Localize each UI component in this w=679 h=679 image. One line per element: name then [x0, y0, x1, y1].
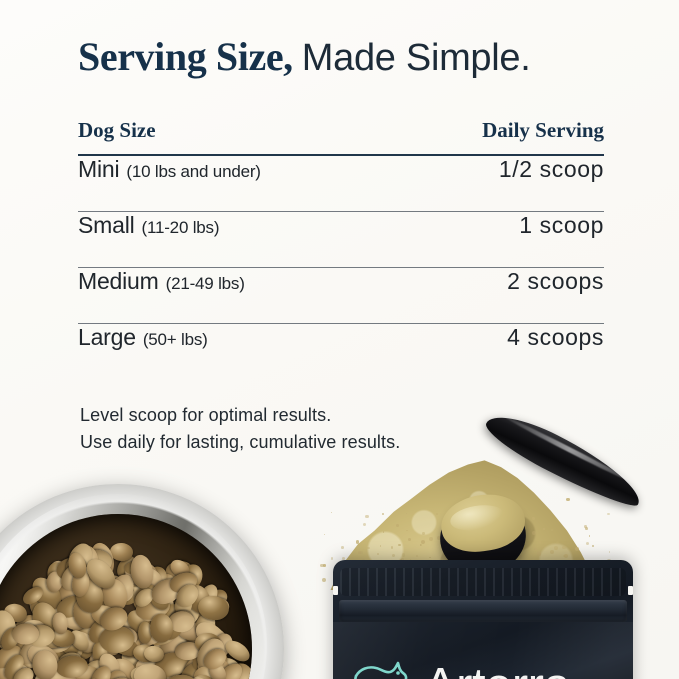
- brand-name: Arterra: [424, 663, 570, 679]
- bowl-rim: [0, 484, 284, 679]
- powder-specks: [318, 492, 618, 588]
- dog-size-name: Medium: [78, 268, 159, 295]
- dog-size-name: Small: [78, 212, 135, 239]
- table-row: Small (11-20 lbs) 1 scoop: [78, 212, 604, 267]
- table-row: Large (50+ lbs) 4 scoops: [78, 324, 604, 379]
- page-title: Serving Size, Made Simple.: [78, 33, 531, 80]
- scoop-handle: [480, 404, 650, 514]
- dog-size-range: (50+ lbs): [143, 330, 208, 350]
- footnote-line-1: Level scoop for optimal results.: [80, 402, 400, 429]
- table-row: Medium (21-49 lbs) 2 scoops: [78, 268, 604, 323]
- arterra-product-bag: Arterra: [333, 560, 633, 679]
- table-header-row: Dog Size Daily Serving: [78, 118, 604, 154]
- dog-size-cell: Large (50+ lbs): [78, 324, 208, 351]
- bag-notch-right: [628, 586, 633, 595]
- dog-logo-icon: [350, 656, 412, 679]
- table-row-divider: [78, 211, 604, 212]
- table-row-divider: [78, 323, 604, 324]
- bag-sheen: [333, 622, 633, 679]
- dog-size-range: (10 lbs and under): [126, 162, 260, 182]
- scoop-filled-powder: [437, 489, 529, 557]
- dog-size-range: (21-49 lbs): [166, 274, 245, 294]
- dog-size-name: Large: [78, 324, 136, 351]
- table-row-divider: [78, 267, 604, 268]
- column-header-dog-size: Dog Size: [78, 118, 156, 143]
- dog-size-cell: Medium (21-49 lbs): [78, 268, 245, 295]
- scoop-bowl: [435, 494, 532, 581]
- bag-notch-left: [333, 586, 338, 595]
- serving-size-infographic: Serving Size, Made Simple. Dog Size Dail…: [0, 0, 679, 679]
- footnote: Level scoop for optimal results. Use dai…: [80, 402, 400, 456]
- daily-serving-cell: 1/2 scoop: [499, 156, 604, 183]
- stainless-steel-dog-bowl: [0, 484, 284, 679]
- brand-lockup: Arterra: [350, 656, 570, 679]
- serving-size-table: Dog Size Daily Serving Mini (10 lbs and …: [78, 118, 604, 379]
- dog-size-cell: Mini (10 lbs and under): [78, 156, 261, 183]
- table-row: Mini (10 lbs and under) 1/2 scoop: [78, 156, 604, 211]
- footnote-line-2: Use daily for lasting, cumulative result…: [80, 429, 400, 456]
- title-bold-part: Serving Size,: [78, 33, 293, 80]
- bag-crimp: [340, 568, 626, 596]
- bowl-rim-highlight: [0, 494, 267, 679]
- daily-serving-cell: 2 scoops: [507, 268, 604, 295]
- daily-serving-cell: 4 scoops: [507, 324, 604, 351]
- bowl-interior-kibble: [0, 514, 252, 679]
- dog-size-range: (11-20 lbs): [142, 218, 220, 238]
- daily-serving-cell: 1 scoop: [519, 212, 604, 239]
- dog-size-name: Mini: [78, 156, 119, 183]
- bag-zipper: [339, 600, 627, 622]
- powder-texture: [325, 455, 600, 590]
- column-header-daily-serving: Daily Serving: [482, 118, 604, 143]
- title-light-part: Made Simple.: [302, 37, 531, 80]
- supplement-powder-pile: [325, 455, 600, 590]
- dog-size-cell: Small (11-20 lbs): [78, 212, 219, 239]
